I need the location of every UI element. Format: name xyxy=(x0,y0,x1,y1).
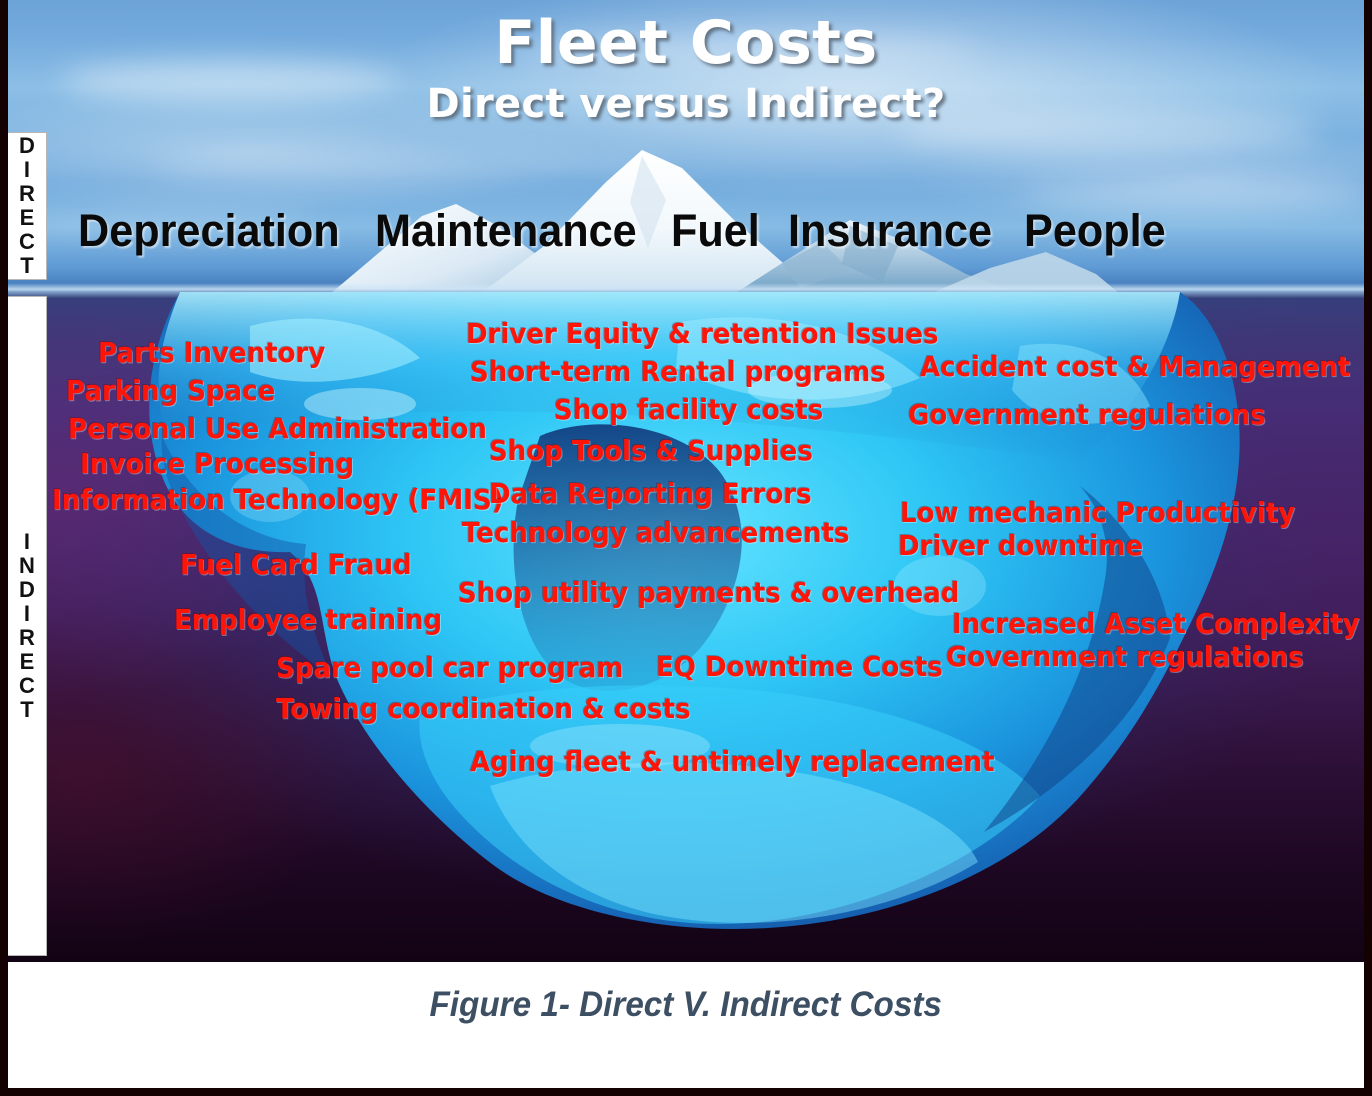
indirect-label-driver-equity: Driver Equity & retention Issues xyxy=(466,317,938,350)
indirect-label-fuel-card-fraud: Fuel Card Fraud xyxy=(180,548,412,581)
caption-panel: Figure 1- Direct V. Indirect Costs xyxy=(8,962,1364,1088)
indirect-label-short-term-rental: Short-term Rental programs xyxy=(470,355,886,388)
direct-cost-insurance: Insurance xyxy=(788,206,992,256)
indirect-label-government-regulations-top: Government regulations xyxy=(908,398,1266,431)
indirect-label-employee-training: Employee training xyxy=(174,603,442,636)
indirect-label-shop-facility-costs: Shop facility costs xyxy=(554,393,823,426)
frame-left-border xyxy=(0,0,8,1088)
indirect-label-low-mechanic-productivity: Low mechanic Productivity xyxy=(900,496,1295,529)
indirect-label-technology-advancements: Technology advancements xyxy=(462,516,850,549)
indirect-label-information-technology: Information Technology (FMIS) xyxy=(52,483,504,516)
direct-costs-row: Depreciation Maintenance Fuel Insurance … xyxy=(78,206,1288,256)
side-tab-direct: DIRECT xyxy=(7,132,47,280)
indirect-label-towing-coordination: Towing coordination & costs xyxy=(276,692,691,725)
side-tab-indirect: INDIRECT xyxy=(7,296,47,956)
indirect-label-shop-tools-supplies: Shop Tools & Supplies xyxy=(489,434,813,467)
indirect-label-personal-use-administration: Personal Use Administration xyxy=(68,412,487,445)
frame-bottom-border xyxy=(0,1088,1372,1096)
indirect-label-parking-space: Parking Space xyxy=(66,374,275,407)
indirect-label-parts-inventory: Parts Inventory xyxy=(98,336,325,369)
indirect-label-eq-downtime-costs: EQ Downtime Costs xyxy=(656,650,943,683)
iceberg-illustration: Fleet Costs Direct versus Indirect? Depr… xyxy=(0,0,1372,962)
indirect-label-spare-pool-car-program: Spare pool car program xyxy=(276,651,623,684)
figure-container: Fleet Costs Direct versus Indirect? Depr… xyxy=(0,0,1372,1096)
direct-cost-maintenance: Maintenance xyxy=(375,206,637,256)
indirect-label-aging-fleet: Aging fleet & untimely replacement xyxy=(470,745,995,778)
indirect-label-accident-cost-management: Accident cost & Management xyxy=(920,350,1350,383)
direct-cost-fuel: Fuel xyxy=(671,206,760,256)
side-tab-indirect-letters: INDIRECT xyxy=(19,530,35,722)
indirect-label-invoice-processing: Invoice Processing xyxy=(80,447,354,480)
side-tab-direct-letters: DIRECT xyxy=(19,134,35,278)
indirect-label-driver-downtime: Driver downtime xyxy=(898,529,1143,562)
indirect-label-shop-utility-payments: Shop utility payments & overhead xyxy=(458,576,959,609)
indirect-label-data-reporting-errors: Data Reporting Errors xyxy=(489,477,812,510)
frame-right-border xyxy=(1364,0,1372,1088)
direct-cost-people: People xyxy=(1024,206,1166,256)
indirect-label-government-regulations-bottom: Government regulations xyxy=(946,640,1304,673)
indirect-label-increased-asset-complexity: Increased Asset Complexity xyxy=(952,607,1359,640)
direct-cost-depreciation: Depreciation xyxy=(78,206,340,256)
figure-caption: Figure 1- Direct V. Indirect Costs xyxy=(430,984,942,1026)
